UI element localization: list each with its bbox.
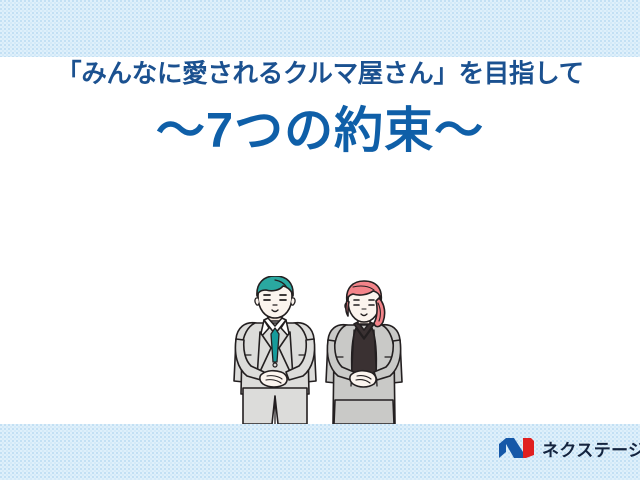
headline-line-2: ～7つの約束～ <box>0 107 640 156</box>
promo-banner: 「みんなに愛されるクルマ屋さん」を目指して ～7つの約束～ <box>0 0 640 480</box>
headline-line-1: 「みんなに愛されるクルマ屋さん」を目指して <box>0 62 640 88</box>
male-staff-figure <box>234 276 316 424</box>
nextage-n-mark-icon <box>497 437 535 464</box>
female-staff-figure <box>326 281 402 424</box>
nextage-logo: ネクステージ <box>497 437 640 464</box>
two-bowing-staff-illustration <box>231 276 411 424</box>
headline-block: 「みんなに愛されるクルマ屋さん」を目指して ～7つの約束～ <box>0 62 640 156</box>
top-dotted-band <box>0 0 640 57</box>
nextage-logo-text: ネクステージ <box>542 442 640 459</box>
